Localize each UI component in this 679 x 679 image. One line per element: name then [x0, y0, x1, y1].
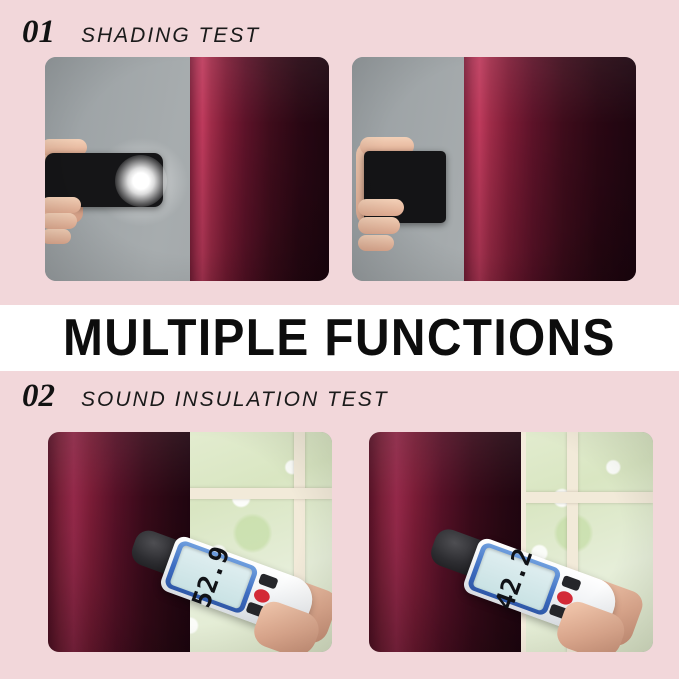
photo-panel-sound-curtain-closed: 42.2 [369, 432, 653, 652]
section-title-02: SOUND INSULATION TEST [81, 389, 389, 410]
panel-vignette [369, 432, 653, 652]
panel-vignette [45, 57, 329, 281]
section-heading-01: 01 SHADING TEST [22, 16, 260, 49]
section-number-02: 02 [22, 380, 55, 413]
panel-vignette [352, 57, 636, 281]
section-number-01: 01 [22, 16, 55, 49]
section-title-01: SHADING TEST [81, 25, 260, 46]
photo-panel-shading-light-blocked [352, 57, 636, 281]
banner-title: MULTIPLE FUNCTIONS [63, 312, 616, 364]
section-heading-02: 02 SOUND INSULATION TEST [22, 380, 389, 413]
panel-vignette [48, 432, 332, 652]
photo-panel-sound-curtain-open: 52.9 [48, 432, 332, 652]
infographic-page: 01 SHADING TEST MULTIPLE FUNCTIONS [0, 0, 679, 679]
banner-multiple-functions: MULTIPLE FUNCTIONS [0, 305, 679, 371]
photo-panel-shading-light-on [45, 57, 329, 281]
